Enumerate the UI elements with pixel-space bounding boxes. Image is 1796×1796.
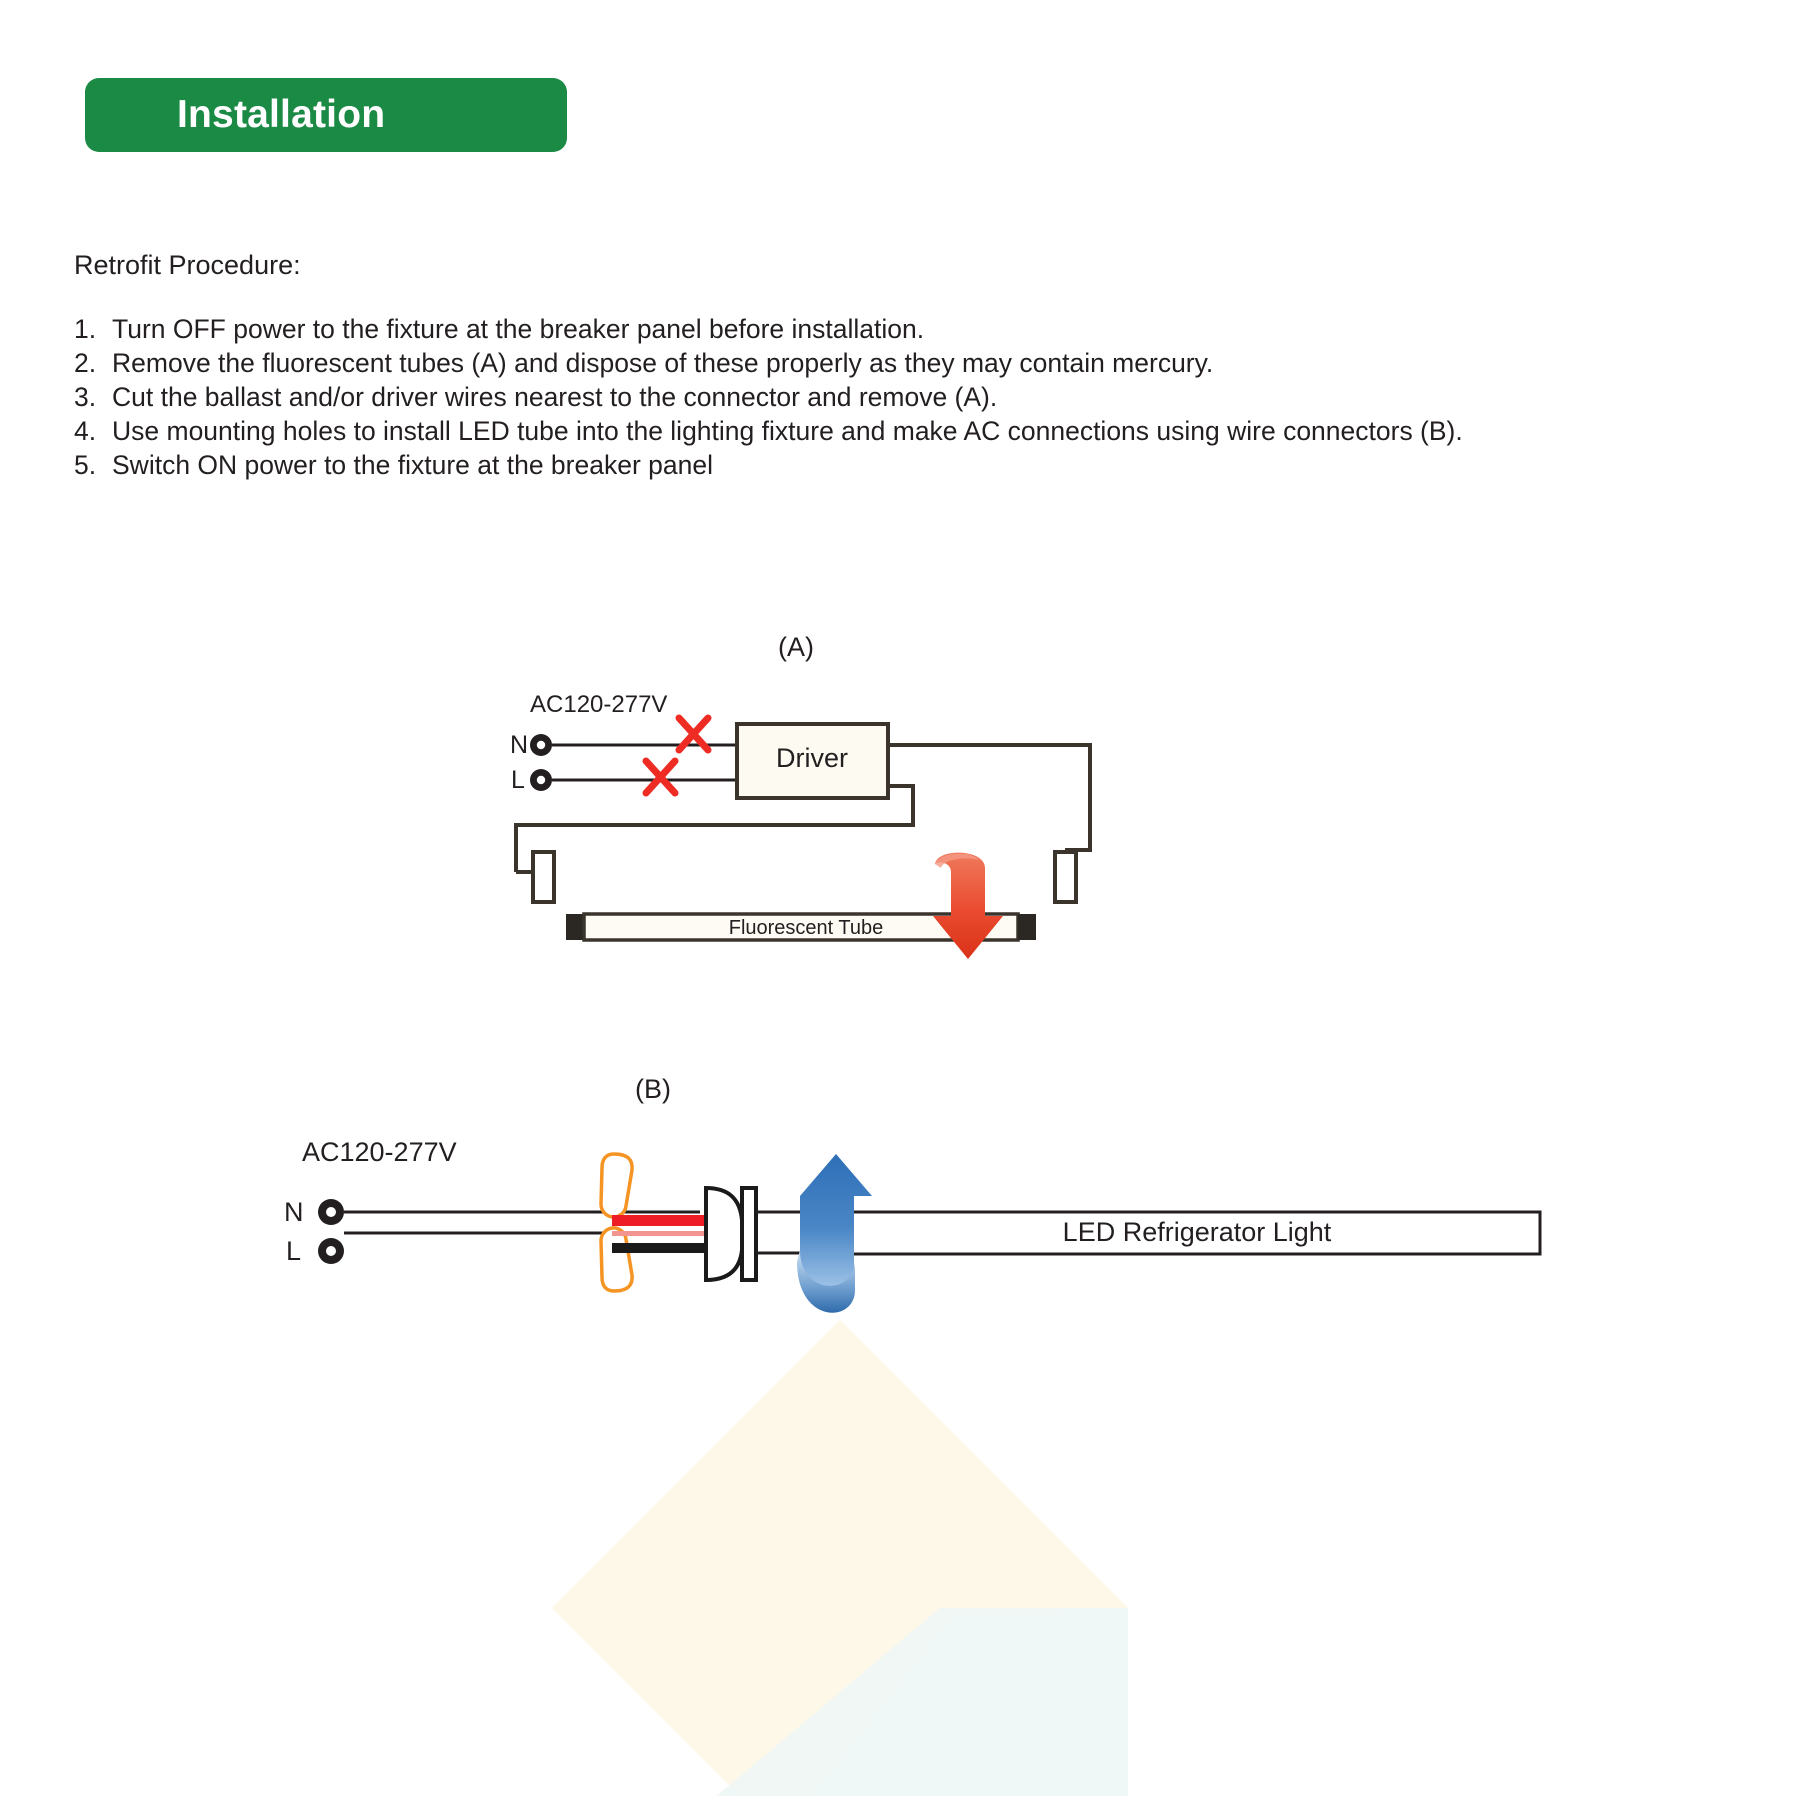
list-item: 1. Turn OFF power to the fixture at the … xyxy=(74,312,1774,346)
installation-badge: Installation xyxy=(85,78,567,152)
diagram-a-voltage-label: AC120-277V xyxy=(530,691,667,718)
list-item-text: Turn OFF power to the fixture at the bre… xyxy=(112,312,924,346)
diagram-b-terminal-dots xyxy=(318,1199,344,1264)
diagram-a-terminal-dots xyxy=(530,734,552,791)
list-item-number: 5. xyxy=(74,448,112,482)
lamp-socket-left xyxy=(516,852,554,902)
diagram-b-caption: (B) xyxy=(635,1074,671,1104)
diagram-a-caption: (A) xyxy=(778,632,814,662)
wiring-diagram: (A) AC120-277V N L Driver xyxy=(0,560,1796,1796)
diagram-a-terminal-l: L xyxy=(511,766,525,794)
diagram-b: (B) AC120-277V N L xyxy=(284,1074,1540,1313)
list-item: 2. Remove the fluorescent tubes (A) and … xyxy=(74,346,1774,380)
list-item-text: Cut the ballast and/or driver wires near… xyxy=(112,380,997,414)
list-item: 3. Cut the ballast and/or driver wires n… xyxy=(74,380,1774,414)
list-item-text: Use mounting holes to install LED tube i… xyxy=(112,414,1463,448)
cut-mark-icon xyxy=(646,761,675,793)
list-item-number: 1. xyxy=(74,312,112,346)
list-item: 4. Use mounting holes to install LED tub… xyxy=(74,414,1774,448)
diagram-b-pigtail-wires xyxy=(612,1215,717,1253)
background-glow xyxy=(552,1320,1128,1796)
driver-label: Driver xyxy=(776,743,848,773)
diagram-b-terminal-l: L xyxy=(286,1236,301,1266)
list-item-number: 4. xyxy=(74,414,112,448)
led-fixture: LED Refrigerator Light xyxy=(756,1212,1540,1254)
list-item-text: Switch ON power to the fixture at the br… xyxy=(112,448,713,482)
diagram-b-terminal-n: N xyxy=(284,1197,304,1227)
list-item-number: 3. xyxy=(74,380,112,414)
installation-badge-label: Installation xyxy=(177,93,385,137)
diagram-a: (A) AC120-277V N L Driver xyxy=(510,632,1090,959)
led-fixture-label: LED Refrigerator Light xyxy=(1063,1217,1332,1247)
list-item-number: 2. xyxy=(74,346,112,380)
connector-cap-icon xyxy=(706,1188,756,1280)
diagram-a-terminal-n: N xyxy=(510,731,528,759)
fluorescent-tube-label: Fluorescent Tube xyxy=(729,917,884,939)
remove-tube-arrow-icon xyxy=(933,853,1003,959)
procedure-list: 1. Turn OFF power to the fixture at the … xyxy=(74,312,1774,482)
list-item-text: Remove the fluorescent tubes (A) and dis… xyxy=(112,346,1213,380)
procedure-title: Retrofit Procedure: xyxy=(74,250,301,281)
list-item: 5. Switch ON power to the fixture at the… xyxy=(74,448,1774,482)
diagram-b-voltage-label: AC120-277V xyxy=(302,1137,457,1167)
lamp-socket-right xyxy=(1055,852,1076,902)
driver-box: Driver xyxy=(737,724,888,798)
